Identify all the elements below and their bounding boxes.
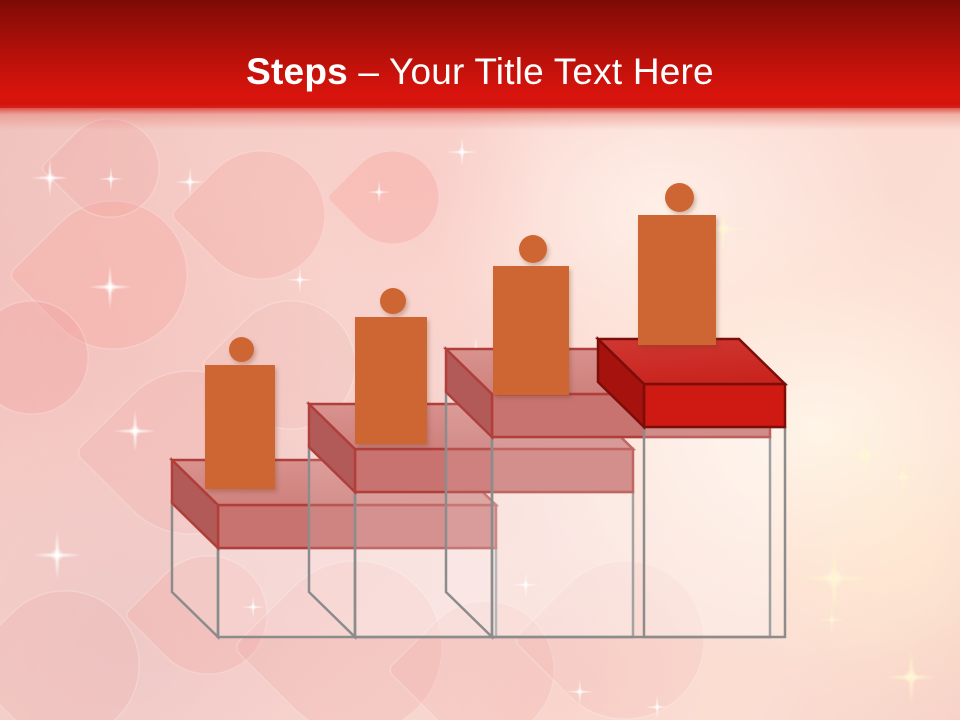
person-head [380,288,406,314]
title-banner-fade [0,104,960,130]
person-figure-1[interactable] [205,337,275,489]
person-body [355,317,427,444]
person-arm-right [699,219,716,286]
person-leg-right [679,269,699,345]
person-figure-4[interactable] [638,183,716,345]
person-figure-3[interactable] [493,235,569,395]
person-figure-2[interactable] [355,288,427,444]
person-head [229,337,254,362]
step-4-riser-front [644,427,785,637]
page-title-bold: Steps [246,51,348,92]
person-leg-left [656,269,676,345]
person-arm-left [205,369,221,431]
person-leg-right [242,415,260,489]
person-leg-right [533,319,553,395]
person-leg-left [510,319,530,395]
person-head [665,183,694,212]
person-arm-right [552,270,569,336]
person-body [205,365,275,489]
person-leg-left [221,415,239,489]
person-arm-left [355,321,371,385]
person-body [493,266,569,395]
person-arm-right [411,321,427,385]
person-head [519,235,547,263]
person-arm-left [638,219,655,286]
person-body [638,215,716,345]
person-arm-left [493,270,510,336]
person-leg-right [393,368,412,444]
page-title-rest: – Your Title Text Here [348,51,714,92]
person-leg-left [371,368,390,444]
slide-canvas: Steps – Your Title Text Here [0,0,960,720]
person-arm-right [259,369,275,431]
page-title: Steps – Your Title Text Here [0,50,960,94]
step-4-slab-front [644,384,785,427]
